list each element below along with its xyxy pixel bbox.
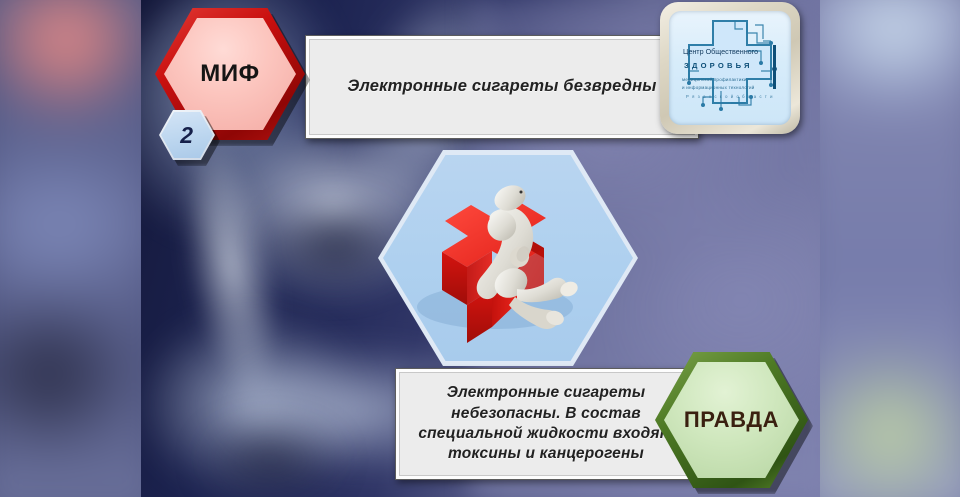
logo-line-1: Центр Общественного bbox=[683, 47, 758, 56]
myth-statement-text: Электронные сигареты безвредны bbox=[321, 76, 682, 98]
logo-artwork: Центр Общественного ЗДОРОВЬЯ медицинской… bbox=[669, 11, 791, 125]
blurred-left-panel bbox=[0, 0, 141, 497]
logo-bar-bottom bbox=[773, 71, 776, 89]
logo-bar-node bbox=[772, 67, 777, 72]
truth-statement-text: Электронные сигареты небезопасны. В сост… bbox=[396, 383, 696, 465]
logo-line-4: и информационных технологий bbox=[682, 84, 755, 90]
logo-line-2: ЗДОРОВЬЯ bbox=[684, 61, 753, 70]
logo-line-3: медицинской профилактики bbox=[682, 76, 747, 82]
myth-hexagon-label: МИФ bbox=[200, 60, 260, 88]
slide-content: Электронные сигареты безвредны Электронн… bbox=[141, 0, 820, 497]
myth-statement-card: Электронные сигареты безвредны bbox=[305, 35, 699, 139]
slide-canvas: Электронные сигареты безвредны Электронн… bbox=[0, 0, 960, 497]
logo-line-5: Р я з а н с к о й о б л а с т и bbox=[686, 94, 774, 99]
badge-number: 2 bbox=[180, 122, 193, 149]
figure-on-cross-illustration bbox=[383, 155, 633, 361]
truth-statement-card: Электронные сигареты небезопасны. В сост… bbox=[395, 368, 697, 480]
illustration-hexagon bbox=[378, 150, 638, 366]
blurred-right-panel bbox=[820, 0, 960, 497]
hexagon-image bbox=[383, 155, 633, 361]
organization-logo: Центр Общественного ЗДОРОВЬЯ медицинской… bbox=[660, 2, 800, 134]
truth-hexagon-label: ПРАВДА bbox=[684, 407, 779, 433]
slide-number-badge: 2 bbox=[159, 110, 215, 160]
blurred-left-fill bbox=[0, 0, 141, 497]
blurred-right-fill bbox=[820, 0, 960, 497]
logo-bar-top bbox=[773, 45, 776, 67]
truth-hexagon: ПРАВДА bbox=[655, 352, 808, 488]
logo-inner-panel: Центр Общественного ЗДОРОВЬЯ медицинской… bbox=[669, 11, 791, 125]
